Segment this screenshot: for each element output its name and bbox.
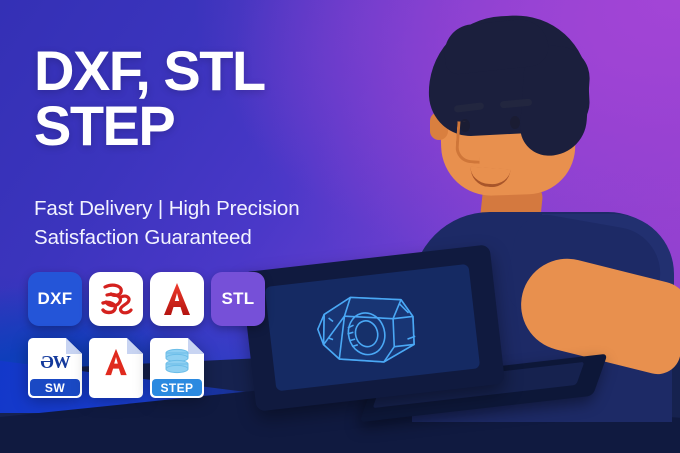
format-badges-row-1: DXF	[28, 272, 265, 326]
autocad-a-mark	[160, 281, 194, 317]
stl-badge-label: STL	[221, 289, 254, 309]
step-label: STEP	[161, 381, 194, 395]
laptop-screen	[265, 264, 481, 392]
solidworks-glyph: ƏW	[40, 352, 69, 373]
laptop-illustration	[248, 258, 608, 428]
3d-cad-wireframe-part	[279, 273, 464, 382]
nose	[455, 121, 483, 164]
autocad-file-icon[interactable]	[89, 338, 143, 398]
headline-line-1: DXF, STL	[34, 39, 265, 102]
solidworks-label: SW	[45, 381, 65, 395]
autocad-a-icon[interactable]	[150, 272, 204, 326]
laptop-lid	[241, 244, 505, 411]
solidworks-mark: ƏW	[28, 346, 82, 378]
3ds-logo-mark	[97, 281, 135, 317]
step-label-band: STEP	[152, 379, 202, 396]
3ds-logo-icon[interactable]	[89, 272, 143, 326]
subheadline-line-1: Fast Delivery | High Precision	[34, 194, 434, 223]
stl-badge-icon[interactable]: STL	[211, 272, 265, 326]
subheadline: Fast Delivery | High Precision Satisfact…	[34, 194, 434, 252]
dxf-badge-label: DXF	[38, 289, 73, 309]
promo-banner: DXF, STL STEP Fast Delivery | High Preci…	[0, 0, 680, 453]
autocad-mark	[89, 346, 143, 378]
subheadline-line-2: Satisfaction Guaranteed	[34, 223, 434, 252]
step-file-icon[interactable]: STEP	[150, 338, 204, 398]
headline: DXF, STL STEP	[34, 44, 414, 154]
eye-right	[510, 116, 520, 129]
format-badges-row-2: ƏW SW	[28, 338, 204, 398]
headline-line-2: STEP	[34, 99, 414, 154]
step-database-mark	[150, 346, 204, 378]
solidworks-label-band: SW	[30, 379, 80, 396]
dxf-badge-icon[interactable]: DXF	[28, 272, 82, 326]
solidworks-file-icon[interactable]: ƏW SW	[28, 338, 82, 398]
